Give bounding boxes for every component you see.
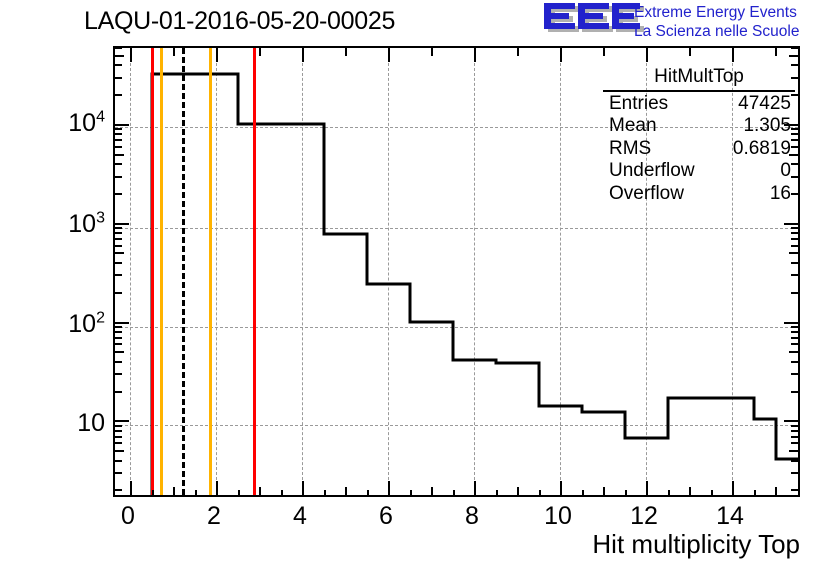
ytick-right-minor-200 xyxy=(791,292,798,294)
xtick-top-2 xyxy=(216,48,218,62)
eee-logo: Extreme Energy Events La Scienza nelle S… xyxy=(540,2,836,44)
ytick-right-minor-3 xyxy=(791,472,798,474)
ytick-right-minor-90 xyxy=(791,326,798,328)
ytick-right-minor-70 xyxy=(791,337,798,339)
ytick-right-minor-40 xyxy=(791,361,798,363)
ytick-right-minor-8 xyxy=(791,430,798,432)
ytick-minor-70 xyxy=(115,337,122,339)
xtick-sub-95 xyxy=(539,490,541,495)
xtick-major-12 xyxy=(646,481,648,495)
ytick-minor-20 xyxy=(115,391,122,393)
ytick-exp-4: 4 xyxy=(96,109,105,126)
stats-title: HitMultTop xyxy=(603,66,795,92)
ytick-right-minor-5 xyxy=(789,450,798,452)
marker-line-orange-left xyxy=(160,48,163,495)
ytick-major-1000 xyxy=(115,223,129,225)
ytick-minor-80 xyxy=(115,331,122,333)
xtick-major-8 xyxy=(474,481,476,495)
ytick-minor-6 xyxy=(115,442,122,444)
xtick-minor-13 xyxy=(689,487,691,495)
ytick-minor-6000 xyxy=(115,146,122,148)
ytick-minor-600 xyxy=(115,245,122,247)
ytick-right-minor-60 xyxy=(791,343,798,345)
ytick-minor-60000 xyxy=(115,47,122,49)
ytick-minor-900 xyxy=(115,227,122,229)
ytick-major-10 xyxy=(115,420,129,422)
ytick-minor-400 xyxy=(115,262,122,264)
marker-line-red-left xyxy=(151,48,154,495)
ytick-minor-200 xyxy=(115,292,122,294)
ytick-label-10: 10 xyxy=(35,410,105,437)
xtick-minor-1 xyxy=(173,487,175,495)
eee-logo-line1: Extreme Energy Events xyxy=(634,3,799,22)
ytick-right-minor-20 xyxy=(791,391,798,393)
ytick-minor-8 xyxy=(115,430,122,432)
xtick-sub-145 xyxy=(754,490,756,495)
xtick-sub-125 xyxy=(668,490,670,495)
marker-line-black-dashed xyxy=(182,48,185,495)
xtick-sub-105 xyxy=(582,490,584,495)
xtick-top-minor-15 xyxy=(775,48,777,56)
stats-value-underflow: 0 xyxy=(780,160,791,183)
ytick-minor-2 xyxy=(115,489,122,491)
xtick-minor-3 xyxy=(259,487,261,495)
ytick-right-minor-2 xyxy=(791,489,798,491)
ytick-exp-3: 3 xyxy=(96,210,105,227)
ytick-major-10000 xyxy=(115,124,129,126)
ytick-label-1000: 103 xyxy=(35,211,105,238)
xtick-label-10: 10 xyxy=(533,503,583,530)
xtick-label-4: 4 xyxy=(275,503,325,530)
stats-row-rms: RMS 0.6819 xyxy=(601,138,797,161)
stats-value-mean: 1.305 xyxy=(743,115,791,138)
xtick-label-0: 0 xyxy=(103,503,153,530)
xtick-major-6 xyxy=(388,481,390,495)
stats-key-rms: RMS xyxy=(609,138,651,161)
xtick-label-14: 14 xyxy=(705,503,755,530)
xtick-minor-9 xyxy=(517,487,519,495)
ytick-minor-300 xyxy=(115,274,122,276)
ytick-minor-4000 xyxy=(115,163,122,165)
ytick-right-minor-500 xyxy=(789,252,798,254)
ytick-minor-90 xyxy=(115,326,122,328)
ytick-minor-8000 xyxy=(115,133,122,135)
ytick-right-minor-30 xyxy=(791,373,798,375)
eee-letters-icon xyxy=(540,1,644,39)
xtick-sub-05 xyxy=(152,490,154,495)
ytick-minor-4 xyxy=(115,460,122,462)
ytick-minor-3 xyxy=(115,472,122,474)
stats-key-underflow: Underflow xyxy=(609,160,695,183)
xtick-sub-75 xyxy=(453,490,455,495)
ytick-right-minor-400 xyxy=(791,262,798,264)
marker-line-red-right xyxy=(253,48,256,495)
ytick-minor-50000 xyxy=(115,55,124,57)
eee-logo-text: Extreme Energy Events La Scienza nelle S… xyxy=(634,3,799,41)
stats-value-overflow: 16 xyxy=(770,183,791,206)
ytick-right-minor-4 xyxy=(791,460,798,462)
stats-value-rms: 0.6819 xyxy=(733,138,791,161)
xtick-major-2 xyxy=(216,481,218,495)
xtick-minor-7 xyxy=(431,487,433,495)
ytick-right-minor-600 xyxy=(791,245,798,247)
ytick-minor-60 xyxy=(115,343,122,345)
stats-key-entries: Entries xyxy=(609,93,668,116)
eee-logo-line2: La Scienza nelle Scuole xyxy=(634,22,799,41)
ytick-label-100: 102 xyxy=(35,311,105,338)
stats-row-mean: Mean 1.305 xyxy=(601,115,797,138)
xtick-minor-5 xyxy=(345,487,347,495)
xtick-top-6 xyxy=(388,48,390,62)
xtick-top-14 xyxy=(732,48,734,62)
xtick-top-12 xyxy=(646,48,648,62)
ytick-right-minor-50 xyxy=(789,351,798,353)
ytick-right-minor-700 xyxy=(791,238,798,240)
ytick-minor-500 xyxy=(115,252,124,254)
xtick-top-minor-9 xyxy=(517,48,519,56)
xtick-label-8: 8 xyxy=(447,503,497,530)
ytick-minor-3000 xyxy=(115,176,122,178)
xtick-sub-115 xyxy=(625,490,627,495)
ytick-major-100 xyxy=(115,322,129,324)
ytick-right-minor-9 xyxy=(791,425,798,427)
xtick-label-6: 6 xyxy=(361,503,411,530)
ytick-right-minor-300 xyxy=(791,274,798,276)
xtick-top-minor-13 xyxy=(689,48,691,56)
ytick-minor-9000 xyxy=(115,128,122,130)
xtick-major-10 xyxy=(560,481,562,495)
xtick-major-4 xyxy=(302,481,304,495)
xtick-sub-135 xyxy=(711,490,713,495)
ytick-minor-2000 xyxy=(115,193,122,195)
ytick-minor-40000 xyxy=(115,64,122,66)
stats-box: HitMultTop Entries 47425 Mean 1.305 RMS … xyxy=(601,66,797,205)
xtick-top-minor-5 xyxy=(345,48,347,56)
xtick-top-0 xyxy=(130,48,132,62)
ytick-right-minor-900 xyxy=(791,227,798,229)
xtick-top-minor-1 xyxy=(173,48,175,56)
ytick-minor-5000 xyxy=(115,154,124,156)
xtick-top-minor-3 xyxy=(259,48,261,56)
ytick-label-10000: 104 xyxy=(35,110,105,137)
ytick-minor-9 xyxy=(115,425,122,427)
xtick-sub-85 xyxy=(496,490,498,495)
marker-line-orange-right xyxy=(209,48,212,495)
stats-key-mean: Mean xyxy=(609,115,657,138)
ytick-minor-50 xyxy=(115,351,124,353)
ytick-minor-20000 xyxy=(115,94,122,96)
ytick-right-major-100 xyxy=(784,322,798,324)
ytick-right-minor-7 xyxy=(791,436,798,438)
ytick-minor-800 xyxy=(115,232,122,234)
xtick-label-12: 12 xyxy=(619,503,669,530)
xtick-top-8 xyxy=(474,48,476,62)
xtick-sub-35 xyxy=(281,490,283,495)
ytick-right-major-1000 xyxy=(784,223,798,225)
xtick-major-14 xyxy=(732,481,734,495)
ytick-minor-30 xyxy=(115,373,122,375)
stats-row-overflow: Overflow 16 xyxy=(601,183,797,206)
xtick-sub-65 xyxy=(410,490,412,495)
ytick-minor-40 xyxy=(115,361,122,363)
root-canvas: LAQU-01-2016-05-20-00025 xyxy=(0,0,836,572)
x-axis-title: Hit multiplicity Top xyxy=(592,529,800,559)
ytick-right-major-10 xyxy=(784,420,798,422)
xtick-major-0 xyxy=(130,481,132,495)
ytick-right-minor-6 xyxy=(791,442,798,444)
stats-row-entries: Entries 47425 xyxy=(601,93,797,116)
ytick-right-minor-60000 xyxy=(791,47,798,49)
ytick-minor-7 xyxy=(115,436,122,438)
ytick-minor-30000 xyxy=(115,77,122,79)
stats-key-overflow: Overflow xyxy=(609,183,684,206)
ytick-minor-5 xyxy=(115,450,124,452)
ytick-right-minor-80 xyxy=(791,331,798,333)
stats-row-underflow: Underflow 0 xyxy=(601,160,797,183)
xtick-sub-45 xyxy=(324,490,326,495)
xtick-top-minor-7 xyxy=(431,48,433,56)
xtick-sub-55 xyxy=(367,490,369,495)
ytick-right-minor-50000 xyxy=(789,55,798,57)
xtick-minor-15 xyxy=(775,487,777,495)
xtick-top-minor-11 xyxy=(603,48,605,56)
xtick-top-10 xyxy=(560,48,562,62)
xtick-sub-15 xyxy=(195,490,197,495)
stats-value-entries: 47425 xyxy=(738,93,791,116)
xtick-top-4 xyxy=(302,48,304,62)
ytick-minor-700 xyxy=(115,238,122,240)
xtick-sub-25 xyxy=(238,490,240,495)
xtick-minor-11 xyxy=(603,487,605,495)
ytick-right-minor-800 xyxy=(791,232,798,234)
page-title: LAQU-01-2016-05-20-00025 xyxy=(84,6,395,36)
ytick-minor-7000 xyxy=(115,139,122,141)
ytick-exp-2: 2 xyxy=(96,310,105,327)
xtick-label-2: 2 xyxy=(189,503,239,530)
